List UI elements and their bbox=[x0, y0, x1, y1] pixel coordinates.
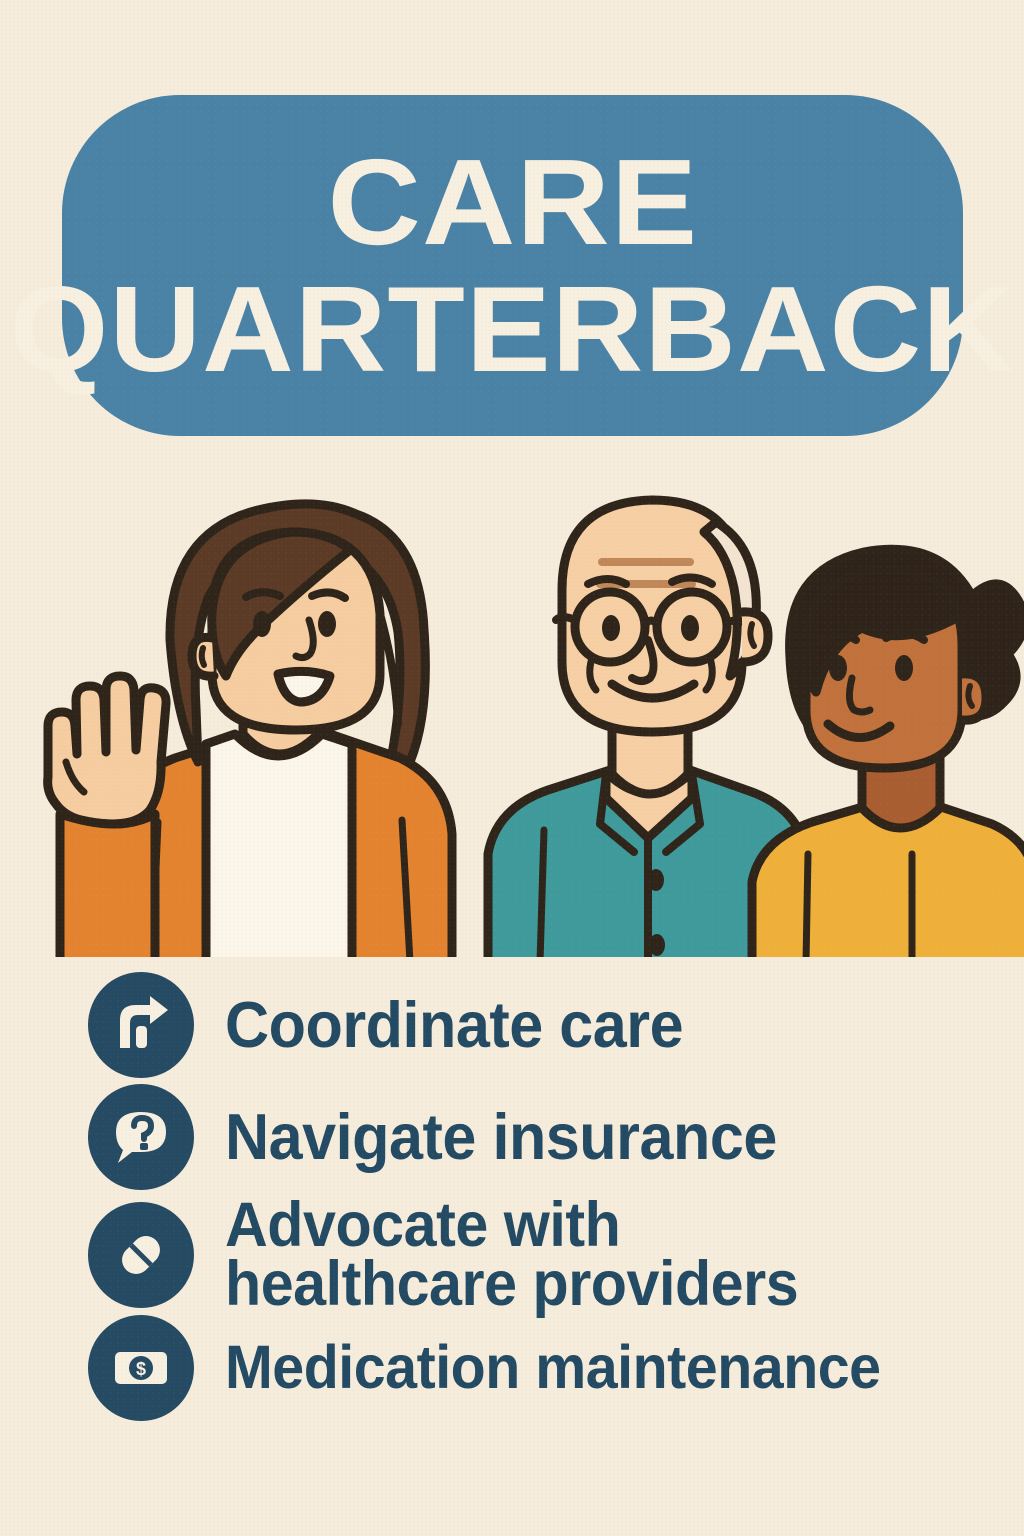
feature-item-medication-maintenance[interactable]: $ Medication maintenance bbox=[0, 1315, 1024, 1421]
title-line-two: QUARTERBACK bbox=[10, 273, 1015, 385]
person-waving-woman bbox=[48, 504, 452, 957]
dollar-banknote-icon-badge: $ bbox=[88, 1315, 194, 1421]
title-line-one: CARE bbox=[327, 146, 698, 258]
poster-canvas: CARE QUARTERBACK bbox=[0, 0, 1024, 1536]
turn-right-arrow-icon-badge bbox=[88, 972, 194, 1078]
feature-item-advocate-providers[interactable]: Advocate with healthcare providers bbox=[0, 1196, 1024, 1313]
feature-label-coordinate-care: Coordinate care bbox=[225, 994, 683, 1056]
pill-capsule-icon-badge bbox=[88, 1202, 194, 1308]
svg-text:$: $ bbox=[136, 1359, 146, 1379]
title-banner: CARE QUARTERBACK bbox=[62, 95, 963, 436]
feature-label-navigate-insurance: Navigate insurance bbox=[225, 1106, 777, 1168]
dollar-banknote-icon: $ bbox=[110, 1337, 172, 1399]
feature-list: Coordinate care Navigate insurance bbox=[0, 972, 1024, 1427]
people-illustration bbox=[0, 462, 1024, 957]
pill-capsule-icon bbox=[110, 1224, 172, 1286]
feature-item-navigate-insurance[interactable]: Navigate insurance bbox=[0, 1084, 1024, 1190]
question-speech-bubble-icon bbox=[110, 1106, 172, 1168]
person-young-woman bbox=[752, 549, 1024, 957]
feature-item-coordinate-care[interactable]: Coordinate care bbox=[0, 972, 1024, 1078]
feature-label-advocate-providers: Advocate with healthcare providers bbox=[225, 1196, 798, 1313]
question-speech-bubble-icon-badge bbox=[88, 1084, 194, 1190]
feature-label-medication-maintenance: Medication maintenance bbox=[225, 1339, 881, 1397]
turn-right-arrow-icon bbox=[110, 994, 172, 1056]
